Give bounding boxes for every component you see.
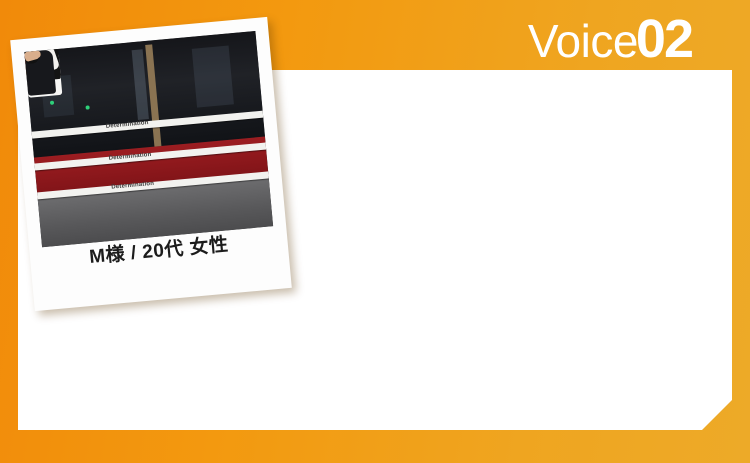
led-light-icon (85, 105, 89, 109)
led-light-icon (50, 101, 54, 105)
voice-badge: Voice 02 (528, 8, 692, 70)
testimonial-photo-frame: Determination Determination Determinatio… (10, 17, 292, 311)
voice-badge-number: 02 (636, 8, 692, 70)
voice-badge-word: Voice (528, 14, 638, 68)
standing-foot (24, 51, 41, 59)
mirror-glint-icon (192, 45, 234, 107)
gym-photo: Determination Determination Determinatio… (24, 31, 273, 247)
